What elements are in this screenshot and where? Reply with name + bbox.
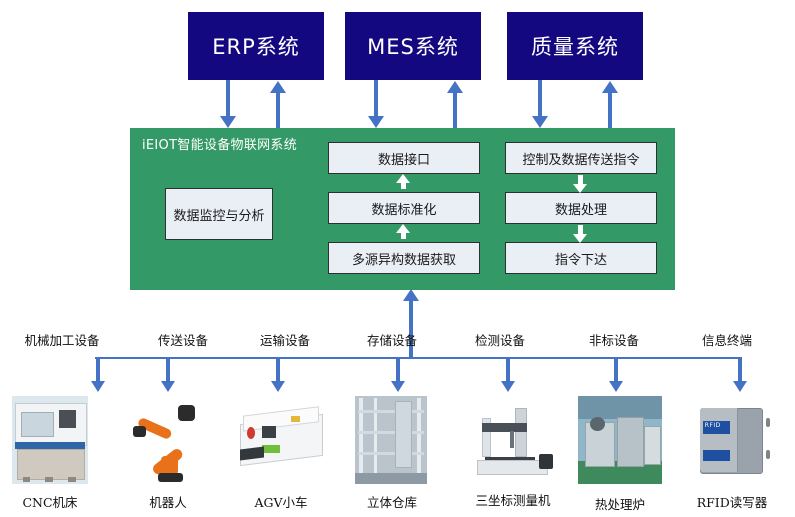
equipment-photo-robot bbox=[126, 396, 210, 484]
command-dispatch-box[interactable]: 指令下达 bbox=[505, 242, 657, 274]
category-label-transport: 运输设备 bbox=[260, 330, 310, 349]
flow-arrow-down-head-1 bbox=[573, 184, 587, 193]
flow-arrow-up-head-1 bbox=[396, 174, 410, 183]
arrow-quality-up-shaft bbox=[608, 92, 612, 128]
monitor-analysis-box[interactable]: 数据监控与分析 bbox=[165, 188, 273, 240]
bus-drop-shaft-furnace bbox=[614, 357, 618, 383]
category-label-conveying: 传送设备 bbox=[158, 330, 208, 349]
equipment-photo-agv bbox=[234, 400, 326, 480]
bus-drop-head-robot bbox=[161, 381, 175, 392]
system-box-erp[interactable]: ERP系统 bbox=[188, 12, 324, 80]
bus-drop-shaft-cmm bbox=[506, 357, 510, 383]
arrow-erp-down-head bbox=[220, 116, 236, 128]
category-label-nonstandard: 非标设备 bbox=[589, 330, 639, 349]
arrow-erp-down-shaft bbox=[226, 80, 230, 118]
diagram-canvas: ERP系统 MES系统 质量系统 iEIOT智能设备物联网系统 数据监控与分析 … bbox=[0, 0, 795, 517]
data-standardization-label: 数据标准化 bbox=[371, 199, 436, 218]
equipment-label-cnc-machine: CNC机床 bbox=[22, 492, 77, 511]
data-interface-box[interactable]: 数据接口 bbox=[328, 142, 480, 174]
equipment-photo-cmm bbox=[470, 400, 556, 482]
equipment-label-warehouse: 立体仓库 bbox=[367, 492, 417, 511]
bus-drop-head-agv bbox=[271, 381, 285, 392]
iot-platform-panel: iEIOT智能设备物联网系统 数据监控与分析 数据接口 数据标准化 多源异构数据… bbox=[130, 128, 675, 290]
system-box-erp-label: ERP系统 bbox=[212, 31, 300, 61]
arrow-mes-up-head bbox=[447, 81, 463, 93]
bus-drop-head-furnace bbox=[609, 381, 623, 392]
bus-drop-shaft-warehouse bbox=[396, 357, 400, 383]
category-label-info-terminal: 信息终端 bbox=[702, 330, 752, 349]
flow-arrow-down-head-2 bbox=[573, 234, 587, 243]
arrow-erp-up-shaft bbox=[276, 92, 280, 128]
category-label-inspection: 检测设备 bbox=[475, 330, 525, 349]
category-label-storage: 存储设备 bbox=[367, 330, 417, 349]
equipment-label-cmm: 三坐标测量机 bbox=[475, 490, 550, 509]
system-box-quality-label: 质量系统 bbox=[531, 31, 619, 61]
system-box-mes[interactable]: MES系统 bbox=[345, 12, 481, 80]
arrow-mes-up-shaft bbox=[453, 92, 457, 128]
data-processing-box[interactable]: 数据处理 bbox=[505, 192, 657, 224]
flow-arrow-up-head-2 bbox=[396, 224, 410, 233]
bus-drop-head-cnc bbox=[91, 381, 105, 392]
equipment-label-heat-furnace: 热处理炉 bbox=[595, 494, 645, 513]
equipment-photo-warehouse bbox=[355, 396, 427, 484]
bus-drop-head-warehouse bbox=[391, 381, 405, 392]
system-box-mes-label: MES系统 bbox=[367, 31, 459, 61]
control-transfer-command-label: 控制及数据传送指令 bbox=[522, 149, 639, 168]
bus-drop-shaft-agv bbox=[276, 357, 280, 383]
equipment-label-rfid-reader: RFID读写器 bbox=[697, 492, 768, 511]
arrow-quality-up-head bbox=[602, 81, 618, 93]
bus-drop-head-rfid bbox=[733, 381, 747, 392]
platform-title: iEIOT智能设备物联网系统 bbox=[142, 134, 297, 153]
monitor-analysis-label: 数据监控与分析 bbox=[173, 205, 264, 224]
category-label-machining: 机械加工设备 bbox=[24, 330, 99, 349]
equipment-photo-cnc-machine bbox=[12, 396, 88, 484]
system-box-quality[interactable]: 质量系统 bbox=[507, 12, 643, 80]
data-interface-label: 数据接口 bbox=[378, 149, 430, 168]
arrow-equipment-to-platform-head bbox=[403, 289, 419, 301]
data-processing-label: 数据处理 bbox=[555, 199, 607, 218]
multisource-data-acquisition-label: 多源异构数据获取 bbox=[352, 249, 456, 268]
arrow-mes-down-shaft bbox=[374, 80, 378, 118]
bus-drop-shaft-rfid bbox=[738, 357, 742, 383]
equipment-bus-line bbox=[95, 357, 740, 359]
arrow-quality-down-shaft bbox=[538, 80, 542, 118]
bus-drop-head-cmm bbox=[501, 381, 515, 392]
arrow-quality-down-head bbox=[532, 116, 548, 128]
bus-drop-shaft-robot bbox=[166, 357, 170, 383]
bus-drop-shaft-cnc bbox=[96, 357, 100, 383]
multisource-data-acquisition-box[interactable]: 多源异构数据获取 bbox=[328, 242, 480, 274]
equipment-photo-rfid-reader: RFID bbox=[692, 400, 772, 480]
equipment-label-robot: 机器人 bbox=[149, 492, 187, 511]
data-standardization-box[interactable]: 数据标准化 bbox=[328, 192, 480, 224]
arrow-mes-down-head bbox=[368, 116, 384, 128]
rfid-brand-text: RFID bbox=[705, 422, 721, 429]
command-dispatch-label: 指令下达 bbox=[555, 249, 607, 268]
equipment-photo-heat-furnace bbox=[578, 396, 662, 484]
control-transfer-command-box[interactable]: 控制及数据传送指令 bbox=[505, 142, 657, 174]
equipment-label-agv: AGV小车 bbox=[254, 492, 307, 511]
arrow-erp-up-head bbox=[270, 81, 286, 93]
